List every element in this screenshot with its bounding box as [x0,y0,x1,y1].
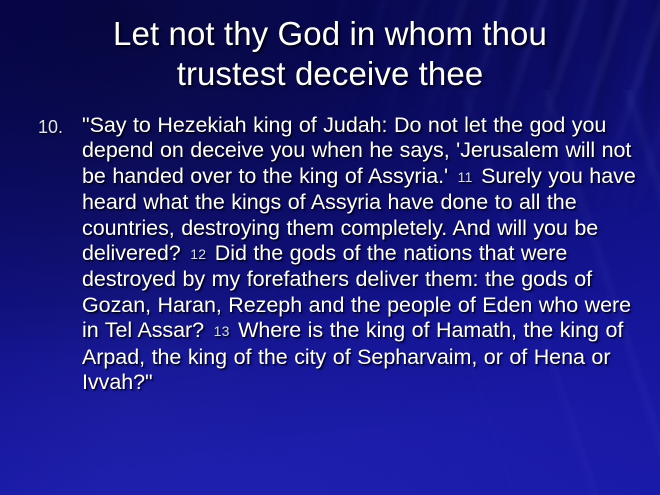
title-line-1: Let not thy God in whom thou [28,14,632,54]
list-item-number: 10. [38,115,63,140]
slide-title: Let not thy God in whom thou trustest de… [28,14,632,94]
verse-number: 13 [211,323,232,339]
presentation-slide: Let not thy God in whom thou trustest de… [0,0,660,495]
list-item: 10. "Say to Hezekiah king of Judah: Do n… [36,113,636,395]
verse-number: 11 [455,169,475,185]
scripture-passage-text: "Say to Hezekiah king of Judah: Do not l… [82,113,636,394]
title-line-2: trustest deceive thee [28,54,632,94]
slide-body: 10. "Say to Hezekiah king of Judah: Do n… [36,113,636,395]
verse-number: 12 [187,246,208,262]
